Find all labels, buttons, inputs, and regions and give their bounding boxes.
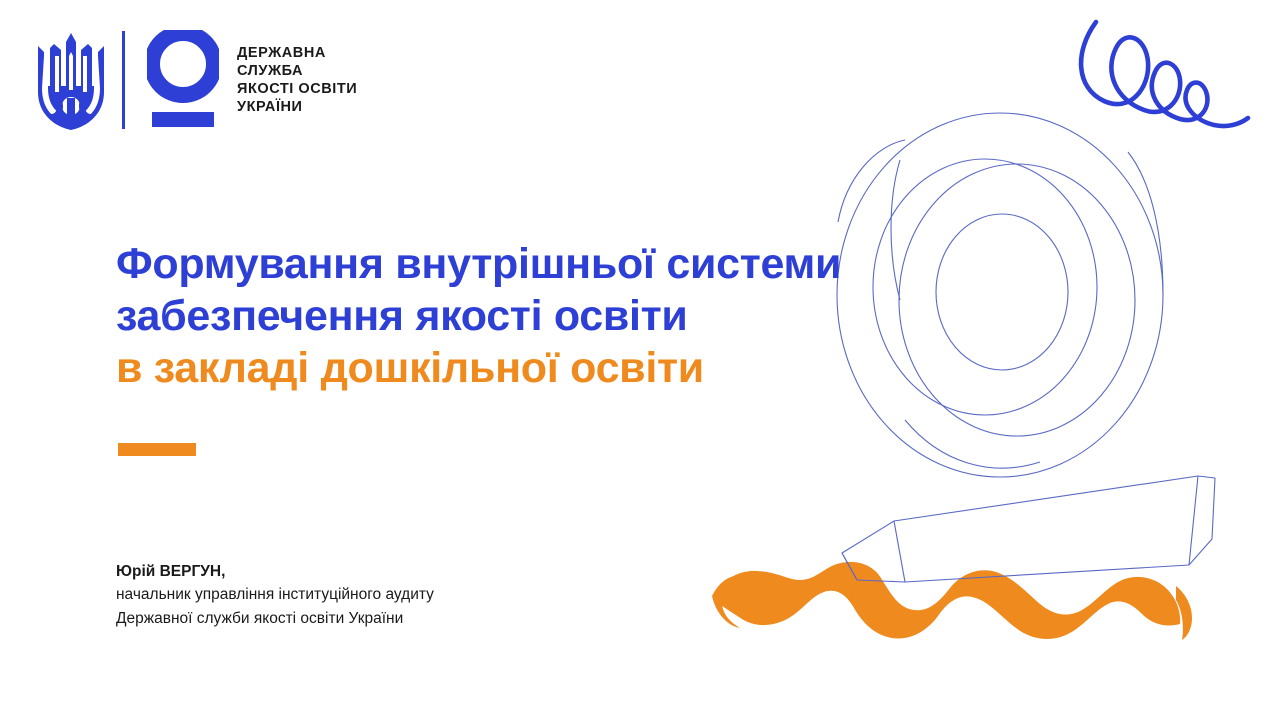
logo-line-1: ДЕРЖАВНА <box>237 45 357 62</box>
title-line-3: в закладі дошкільної освіти <box>116 342 1076 394</box>
author-block: Юрій ВЕРГУН, начальник управління інстит… <box>116 560 434 631</box>
author-name: Юрій ВЕРГУН, <box>116 560 434 583</box>
organization-logo: ДЕРЖАВНА СЛУЖБА ЯКОСТІ ОСВІТИ УКРАЇНИ <box>38 30 357 130</box>
orange-brush-stroke-icon <box>712 562 1192 640</box>
author-role-line-2: Державної служби якості освіти України <box>116 607 434 631</box>
blue-loop-squiggle-icon <box>1081 22 1248 126</box>
logo-line-2: СЛУЖБА <box>237 63 357 80</box>
logo-line-3: ЯКОСТІ ОСВІТИ <box>237 81 357 98</box>
logo-wordmark: ДЕРЖАВНА СЛУЖБА ЯКОСТІ ОСВІТИ УКРАЇНИ <box>237 45 357 116</box>
author-role-line-1: начальник управління інституційного ауди… <box>116 583 434 607</box>
ukrainian-trident-icon <box>38 30 104 130</box>
title-line-1: Формування внутрішньої системи <box>116 238 1076 290</box>
title-line-2: забезпечення якості освіти <box>116 290 1076 342</box>
logo-line-4: УКРАЇНИ <box>237 99 357 116</box>
orange-accent-rule <box>118 443 196 456</box>
logo-divider <box>122 31 125 129</box>
ring-and-bar-emblem-icon <box>147 30 219 130</box>
wireframe-pencil-icon <box>842 476 1215 582</box>
presentation-slide: ДЕРЖАВНА СЛУЖБА ЯКОСТІ ОСВІТИ УКРАЇНИ Фо… <box>0 0 1280 720</box>
slide-title: Формування внутрішньої системи забезпече… <box>116 238 1076 394</box>
